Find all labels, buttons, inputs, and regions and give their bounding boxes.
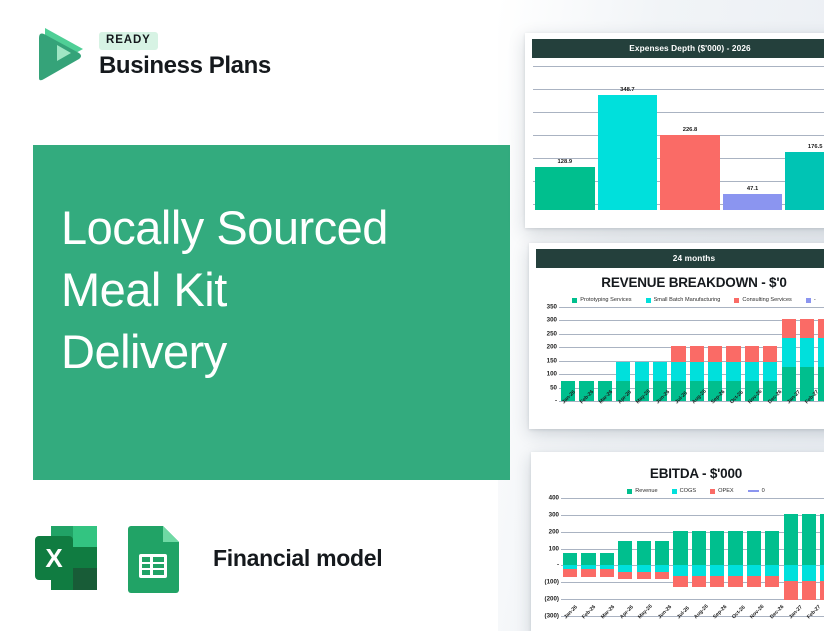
y-tick-label: -	[555, 398, 557, 405]
bar-segment[interactable]	[782, 319, 796, 339]
bar-segment[interactable]	[653, 362, 667, 381]
y-tick-label: 100	[547, 371, 557, 378]
bar-segment[interactable]	[726, 362, 740, 381]
bar-segment[interactable]	[763, 346, 777, 362]
svg-text:X: X	[45, 543, 63, 573]
stacked-bar-column[interactable]	[577, 307, 595, 401]
stacked-bar-column[interactable]	[816, 307, 824, 401]
legend-label: Small Batch Manufacturing	[654, 297, 721, 303]
legend-swatch	[806, 298, 811, 303]
bar-segment[interactable]	[818, 319, 824, 339]
footer-label: Financial model	[213, 545, 382, 572]
footer-row: X Financial model	[33, 522, 382, 594]
y-tick-label: (300)	[545, 613, 559, 620]
microsoft-excel-icon: X	[33, 522, 99, 594]
stacked-bar-column[interactable]	[651, 307, 669, 401]
legend-item[interactable]: OPEX	[710, 488, 734, 494]
y-tick-label: 150	[547, 357, 557, 364]
bar[interactable]	[660, 135, 720, 210]
stacked-bar-column[interactable]	[633, 307, 651, 401]
legend-label: COGS	[680, 488, 696, 494]
bar[interactable]	[785, 152, 824, 210]
y-tick-label: 50	[550, 384, 557, 391]
bar[interactable]	[535, 167, 595, 210]
stacked-bar-column[interactable]	[743, 307, 761, 401]
ebitda-line-series	[561, 498, 824, 631]
bar-segment[interactable]	[616, 362, 630, 381]
y-tick-label: (100)	[545, 579, 559, 586]
brand-name: Business Plans	[99, 53, 271, 78]
bar-column[interactable]: 128.9	[535, 62, 595, 210]
google-sheets-icon	[121, 522, 187, 594]
bar-segment[interactable]	[671, 346, 685, 362]
chart-band-24-months: 24 months	[536, 249, 824, 268]
y-tick-label: 350	[547, 304, 557, 311]
y-tick-label: 200	[547, 344, 557, 351]
legend-label: Prototyping Services	[580, 297, 631, 303]
bar-segment[interactable]	[745, 346, 759, 362]
bar-value-label: 128.9	[535, 159, 595, 165]
brand-text: READY Business Plans	[99, 28, 271, 78]
bar-segment[interactable]	[635, 362, 649, 381]
legend-item[interactable]: Small Batch Manufacturing	[646, 297, 721, 303]
chart-title-ebitda: EBITDA - $'000	[531, 466, 824, 481]
bar-segment[interactable]	[818, 367, 824, 401]
bar-segment[interactable]	[800, 338, 814, 366]
title-banner: Locally Sourced Meal Kit Delivery	[33, 145, 510, 480]
bar[interactable]	[723, 194, 783, 210]
bar-segment[interactable]	[726, 346, 740, 362]
bar-segment[interactable]	[708, 362, 722, 381]
legend-item[interactable]: COGS	[672, 488, 696, 494]
bar[interactable]	[598, 95, 658, 210]
page-title: Locally Sourced Meal Kit Delivery	[61, 197, 491, 383]
bar-segment[interactable]	[671, 362, 685, 381]
chart-legend-ebitda: RevenueCOGSOPEX0	[531, 488, 824, 494]
bar-segment[interactable]	[690, 346, 704, 362]
bar-column[interactable]: 47.1	[723, 62, 783, 210]
bar-segment[interactable]	[708, 346, 722, 362]
stacked-bar-column[interactable]	[780, 307, 798, 401]
bar-segment[interactable]	[745, 362, 759, 381]
bar-column[interactable]: 226.8	[660, 62, 720, 210]
stacked-bar-column[interactable]	[724, 307, 742, 401]
plot-area-ebitda: 400300200100-(100)(200)(300) Jan-26Feb-2…	[533, 498, 824, 616]
chart-card-ebitda[interactable]: EBITDA - $'000 RevenueCOGSOPEX0 40030020…	[531, 452, 824, 631]
brand-logo-block[interactable]: READY Business Plans	[33, 22, 271, 84]
legend-swatch	[646, 298, 651, 303]
legend-item[interactable]: 0	[748, 488, 765, 494]
chart-card-revenue[interactable]: 24 months REVENUE BREAKDOWN - $'0 Protot…	[529, 243, 824, 429]
y-tick-label: 200	[549, 528, 559, 535]
legend-item[interactable]: Prototyping Services	[572, 297, 631, 303]
legend-item[interactable]: Revenue	[627, 488, 657, 494]
chart-card-expenses[interactable]: Expenses Depth ($'000) - 2026 128.9348.7…	[525, 33, 824, 228]
legend-swatch	[627, 489, 632, 494]
play-triangle-logo-icon	[33, 22, 89, 84]
chart-title-expenses: Expenses Depth ($'000) - 2026	[532, 39, 824, 58]
bar-segment[interactable]	[763, 362, 777, 381]
legend-label: Revenue	[635, 488, 657, 494]
bar-value-label: 176.5	[785, 144, 824, 150]
stacked-bar-column[interactable]	[596, 307, 614, 401]
y-tick-label: 250	[547, 330, 557, 337]
y-tick-label: -	[557, 562, 559, 569]
bar-segment[interactable]	[782, 338, 796, 366]
stacked-bar-column[interactable]	[798, 307, 816, 401]
bar-column[interactable]: 176.5	[785, 62, 824, 210]
bar-segment[interactable]	[690, 362, 704, 381]
stacked-bar-column[interactable]	[614, 307, 632, 401]
y-tick-label: 100	[549, 545, 559, 552]
legend-swatch	[710, 489, 715, 494]
poster-canvas: READY Business Plans Locally Sourced Mea…	[0, 0, 824, 631]
stacked-bar-column[interactable]	[669, 307, 687, 401]
bar-segment[interactable]	[818, 338, 824, 366]
stacked-bar-column[interactable]	[761, 307, 779, 401]
legend-swatch	[672, 489, 677, 494]
plot-area-expenses: 128.9348.7226.847.1176.5	[533, 62, 824, 210]
y-tick-label: 300	[547, 317, 557, 324]
chart-legend-revenue: Prototyping ServicesSmall Batch Manufact…	[529, 297, 824, 303]
stacked-bar-column[interactable]	[706, 307, 724, 401]
legend-label: 0	[762, 488, 765, 494]
ready-badge: READY	[99, 32, 158, 50]
legend-label: Consulting Services	[742, 297, 791, 303]
bar-value-label: 47.1	[723, 186, 783, 192]
y-tick-label: 400	[549, 495, 559, 502]
bar-value-label: 226.8	[660, 127, 720, 133]
bar-segment[interactable]	[800, 319, 814, 339]
legend-swatch	[734, 298, 739, 303]
y-tick-label: (200)	[545, 596, 559, 603]
bar-column[interactable]: 348.7	[598, 62, 658, 210]
bar-value-label: 348.7	[598, 87, 658, 93]
plot-area-revenue: 35030025020015010050- Jan-26Feb-26Mar-26…	[531, 307, 824, 401]
stacked-bar-column[interactable]	[559, 307, 577, 401]
legend-item[interactable]: Consulting Services	[734, 297, 791, 303]
legend-swatch	[572, 298, 577, 303]
y-tick-label: 300	[549, 511, 559, 518]
legend-item[interactable]: -	[806, 297, 816, 303]
legend-label: OPEX	[718, 488, 734, 494]
chart-title-revenue: REVENUE BREAKDOWN - $'0	[529, 275, 824, 290]
legend-label: -	[814, 297, 816, 303]
legend-swatch	[748, 490, 759, 492]
